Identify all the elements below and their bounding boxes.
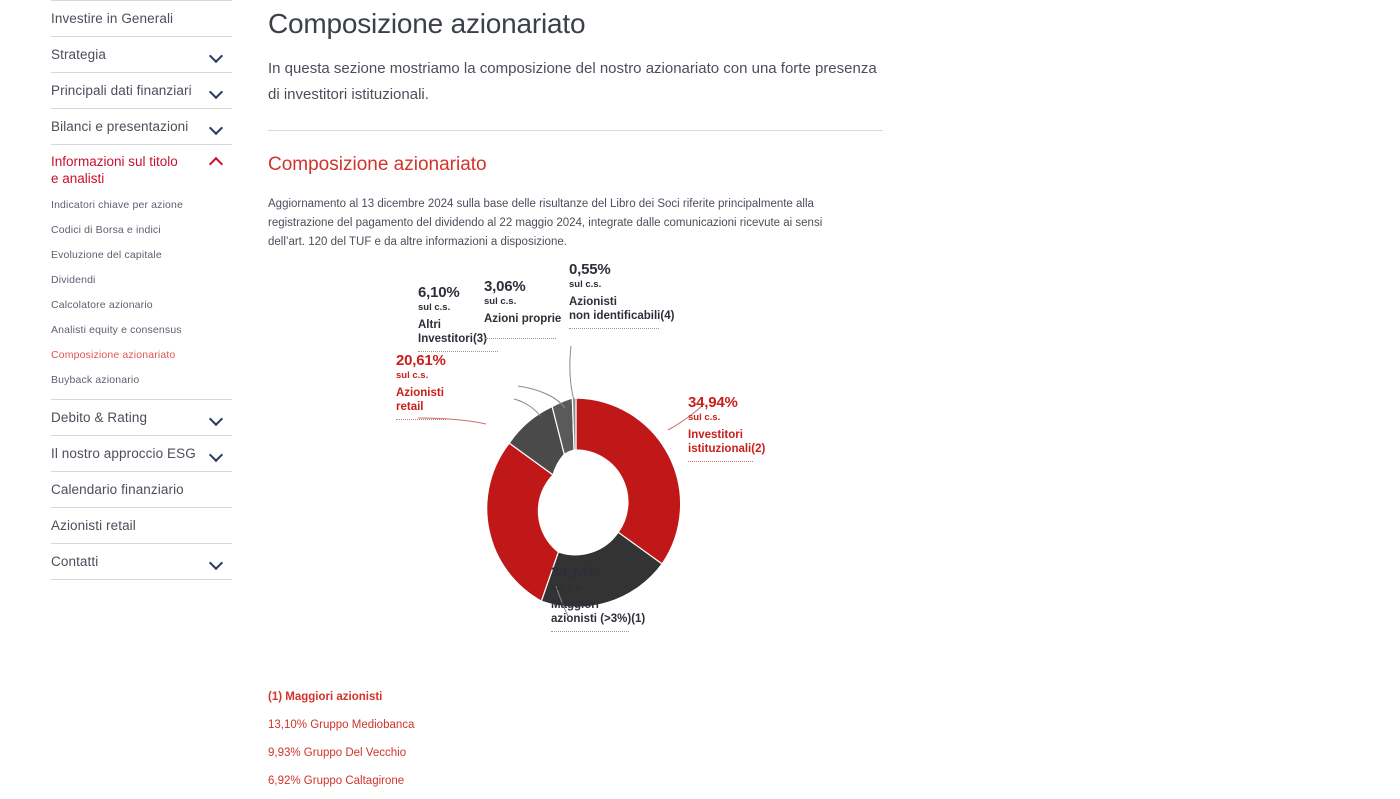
chart-label-name-line1: Maggiori (551, 598, 651, 612)
chart-label-unit: sul c.s. (396, 369, 480, 382)
sidebar-subitem-codici-di-borsa-e-indici[interactable]: Codici di Borsa e indici (51, 218, 232, 243)
chart-label-value: 34,74% (551, 564, 651, 581)
chart-label-azionisti-non-identificabili: 0,55% sul c.s. Azionisti non identificab… (569, 261, 669, 329)
sidebar-subitem-buyback-azionario[interactable]: Buyback azionario (51, 368, 232, 393)
chart-label-value: 34,94% (688, 394, 788, 411)
chart-label-unit: sul c.s. (688, 411, 788, 424)
leader-line-azionisti-non-identificabili (570, 346, 575, 404)
sidebar-item-calendario-finanziario[interactable]: Calendario finanziario (51, 472, 232, 508)
update-note: Aggiornamento al 13 dicembre 2024 sulla … (268, 195, 858, 252)
sidebar-item-label: Contatti (51, 553, 98, 570)
chevron-up-icon[interactable] (210, 153, 224, 167)
sidebar-item-label: Debito & Rating (51, 409, 147, 426)
sidebar-subitem-calcolatore-azionario[interactable]: Calcolatore azionario (51, 293, 232, 318)
footnote-row: 6,92% Gruppo Caltagirone (268, 774, 883, 788)
chart-label-underline (688, 461, 753, 462)
sidebar-item-approccio-esg[interactable]: Il nostro approccio ESG (51, 436, 232, 472)
page-root: Investire in Generali Strategia Principa… (0, 0, 1400, 799)
sidebar-subitem-composizione-azionariato[interactable]: Composizione azionariato (51, 343, 232, 368)
sidebar-item-investire-in-generali[interactable]: Investire in Generali (51, 1, 232, 37)
chevron-down-icon[interactable] (210, 555, 224, 569)
sidebar-item-informazioni-sul-titolo-e-analisti[interactable]: Informazioni sul titolo e analisti (51, 145, 232, 191)
chart-label-name-line1: Azioni proprie (484, 312, 564, 326)
sidebar-subitem-dividendi[interactable]: Dividendi (51, 268, 232, 293)
sidebar-nav: Investire in Generali Strategia Principa… (51, 0, 232, 580)
sidebar-item-label: Informazioni sul titolo e analisti (51, 153, 181, 187)
chart-label-name-line1: Investitori (688, 428, 788, 442)
chart-label-underline (551, 631, 629, 632)
chart-label-value: 3,06% (484, 278, 564, 295)
chart-label-value: 20,61% (396, 352, 480, 369)
chart-label-name-line1: Azionisti (396, 386, 480, 400)
sidebar-item-label: Calendario finanziario (51, 481, 184, 498)
chart-label-unit: sul c.s. (569, 278, 669, 291)
chevron-down-icon[interactable] (210, 120, 224, 134)
footnotes-list: (1) Maggiori azionisti 13,10% Gruppo Med… (268, 690, 883, 799)
sidebar-item-contatti[interactable]: Contatti (51, 544, 232, 580)
chevron-down-icon[interactable] (210, 411, 224, 425)
chevron-down-icon[interactable] (210, 48, 224, 62)
chart-label-name-line2: non identificabili(4) (569, 309, 669, 323)
sidebar-subitem-indicatori-chiave-per-azione[interactable]: Indicatori chiave per azione (51, 193, 232, 218)
sidebar-item-label: Strategia (51, 46, 106, 63)
chart-label-azioni-proprie: 3,06% sul c.s. Azioni proprie (484, 278, 564, 339)
leader-line-altri-investitori (514, 399, 540, 416)
page-title: Composizione azionariato (268, 6, 883, 42)
footnote-row: 13,10% Gruppo Mediobanca (268, 718, 883, 732)
main-content: Composizione azionariato In questa sezio… (268, 0, 883, 799)
sidebar-item-principali-dati-finanziari[interactable]: Principali dati finanziari (51, 73, 232, 109)
chart-label-unit: sul c.s. (551, 581, 651, 594)
sidebar-item-label: Il nostro approccio ESG (51, 445, 196, 462)
sidebar-item-label: Investire in Generali (51, 10, 173, 27)
sidebar-item-azionisti-retail[interactable]: Azionisti retail (51, 508, 232, 544)
sidebar-subitem-evoluzione-del-capitale[interactable]: Evoluzione del capitale (51, 243, 232, 268)
section-title: Composizione azionariato (268, 153, 883, 177)
chart-label-name-line2: istituzionali(2) (688, 442, 788, 456)
chart-label-underline (484, 338, 556, 339)
chart-label-name-line2: azionisti (>3%)(1) (551, 612, 651, 626)
divider (268, 130, 883, 131)
sidebar-subitem-analisti-equity-e-consensus[interactable]: Analisti equity e consensus (51, 318, 232, 343)
chart-label-name-line1: Azionisti (569, 295, 669, 309)
chart-label-unit: sul c.s. (484, 295, 564, 308)
shareholding-donut-chart: 6,10% sul c.s. Altri Investitori(3) 3,06… (268, 264, 883, 684)
chart-label-underline (569, 328, 659, 329)
sidebar-group-informazioni-sul-titolo: Informazioni sul titolo e analisti Indic… (51, 145, 232, 400)
sidebar-item-bilanci-e-presentazioni[interactable]: Bilanci e presentazioni (51, 109, 232, 145)
footnote-row: 9,93% Gruppo Del Vecchio (268, 746, 883, 760)
footnote-heading: (1) Maggiori azionisti (268, 690, 883, 704)
chevron-down-icon[interactable] (210, 84, 224, 98)
chart-label-underline (396, 419, 446, 420)
sidebar-item-label: Azionisti retail (51, 517, 136, 534)
chart-label-investitori-istituzionali: 34,94% sul c.s. Investitori istituzional… (688, 394, 788, 462)
chevron-down-icon[interactable] (210, 447, 224, 461)
sidebar-item-label: Principali dati finanziari (51, 82, 192, 99)
sidebar-item-debito-rating[interactable]: Debito & Rating (51, 400, 232, 436)
chart-label-azionisti-retail: 20,61% sul c.s. Azionisti retail (396, 352, 480, 420)
sidebar-item-strategia[interactable]: Strategia (51, 37, 232, 73)
chart-label-value: 0,55% (569, 261, 669, 278)
intro-paragraph: In questa sezione mostriamo la composizi… (268, 56, 878, 108)
chart-label-maggiori-azionisti: 34,74% sul c.s. Maggiori azionisti (>3%)… (551, 564, 651, 632)
chart-label-name-line2: retail (396, 400, 480, 414)
sidebar-item-label: Bilanci e presentazioni (51, 118, 188, 135)
sidebar-subnav: Indicatori chiave per azione Codici di B… (51, 191, 232, 400)
